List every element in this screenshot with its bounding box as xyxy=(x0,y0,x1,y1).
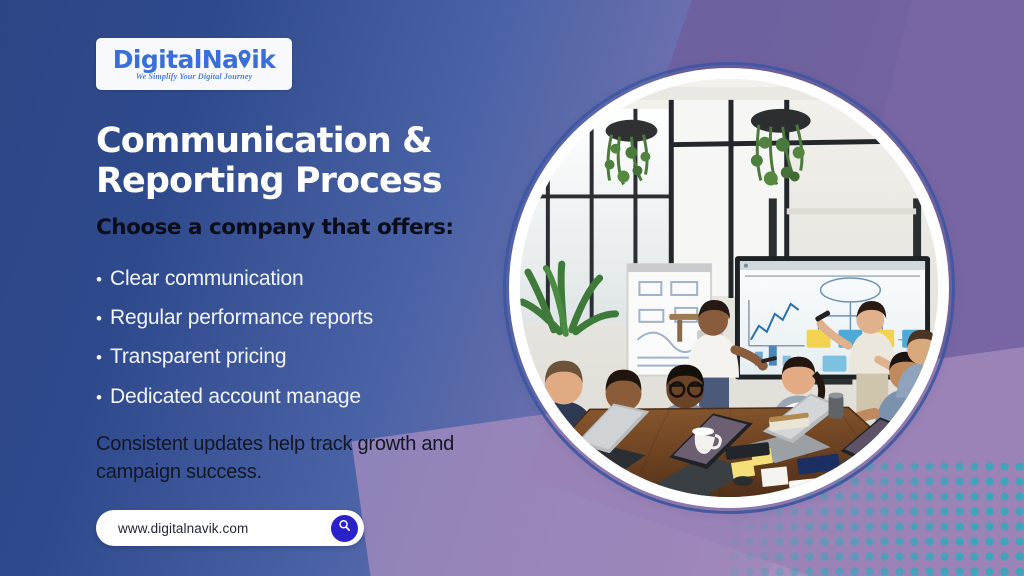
page-title: Communication & Reporting Process xyxy=(96,122,516,202)
slide-canvas: DigitalNa ik We Simplify Your Digital Jo… xyxy=(0,0,1024,576)
hero-image-container xyxy=(503,62,955,514)
list-item: • Clear communication xyxy=(96,266,516,291)
brand-logo-wordmark: DigitalNa ik xyxy=(113,47,276,72)
brand-logo[interactable]: DigitalNa ik We Simplify Your Digital Jo… xyxy=(96,38,292,90)
website-url-text: www.digitalnavik.com xyxy=(118,521,331,536)
brand-logo-text-ik: ik xyxy=(251,47,275,72)
search-icon xyxy=(337,518,352,538)
bullet-dot-icon: • xyxy=(96,271,110,288)
bullet-dot-icon: • xyxy=(96,389,110,406)
feature-list: • Clear communication • Regular performa… xyxy=(96,266,516,423)
list-item-label: Regular performance reports xyxy=(110,305,373,330)
page-title-line-1: Communication & xyxy=(96,121,432,161)
brand-logo-text-na: Na xyxy=(202,47,239,72)
list-item: • Regular performance reports xyxy=(96,305,516,330)
list-item-label: Dedicated account manage xyxy=(110,384,361,409)
list-item-label: Transparent pricing xyxy=(110,344,286,369)
search-button[interactable] xyxy=(331,515,358,542)
list-item-label: Clear communication xyxy=(110,266,303,291)
list-item: • Dedicated account manage xyxy=(96,384,516,409)
brand-tagline: We Simplify Your Digital Journey xyxy=(136,73,253,81)
bullet-dot-icon: • xyxy=(96,310,110,327)
website-url-bar[interactable]: www.digitalnavik.com xyxy=(96,510,364,546)
bullet-dot-icon: • xyxy=(96,349,110,366)
list-item: • Transparent pricing xyxy=(96,344,516,369)
map-pin-icon xyxy=(238,48,251,68)
page-title-line-2: Reporting Process xyxy=(96,161,442,201)
section-subtitle: Choose a company that offers: xyxy=(96,215,454,240)
brand-logo-text-digital: Digital xyxy=(113,47,202,72)
content-column: DigitalNa ik We Simplify Your Digital Jo… xyxy=(96,0,526,576)
hero-image xyxy=(520,79,938,497)
closing-paragraph: Consistent updates help track growth and… xyxy=(96,430,456,487)
